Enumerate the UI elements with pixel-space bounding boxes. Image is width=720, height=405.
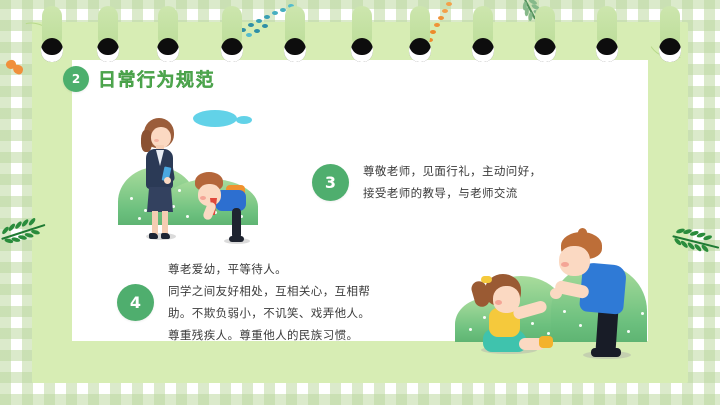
spiral-ring-icon xyxy=(596,38,618,62)
item-number-badge: 3 xyxy=(312,164,349,201)
item-text: 尊敬老师，见面行礼，主动问好， 接受老师的教导，与老师交流 xyxy=(363,160,542,204)
spiral-binding xyxy=(0,0,720,70)
item-line: 尊重残疾人。尊重他人的民族习惯。 xyxy=(168,324,370,346)
spiral-ring-icon xyxy=(41,38,63,62)
teacher-figure xyxy=(130,118,190,240)
list-item: 3 尊敬老师，见面行礼，主动问好， 接受老师的教导，与老师交流 xyxy=(312,160,542,204)
item-number-badge: 4 xyxy=(117,284,154,321)
spiral-ring-icon xyxy=(472,38,494,62)
section-heading: 2 日常行为规范 xyxy=(63,66,215,92)
spiral-ring-icon xyxy=(284,38,306,62)
speech-bubble-icon xyxy=(193,110,237,127)
item-line: 接受老师的教导，与老师交流 xyxy=(363,182,542,204)
list-item: 4 尊老爱幼，平等待人。 同学之间友好相处，互相关心，互相帮 助。不欺负弱小，不… xyxy=(117,258,370,346)
section-number-badge: 2 xyxy=(63,66,89,92)
spiral-ring-icon xyxy=(221,38,243,62)
spiral-ring-icon xyxy=(97,38,119,62)
spiral-ring-icon xyxy=(409,38,431,62)
item-line: 尊敬老师，见面行礼，主动问好， xyxy=(363,160,542,182)
spiral-ring-icon xyxy=(157,38,179,62)
item-line: 尊老爱幼，平等待人。 xyxy=(168,258,370,280)
item-line: 同学之间友好相处，互相关心，互相帮 xyxy=(168,280,370,302)
slide-canvas: 2 日常行为规范 xyxy=(0,0,720,405)
speech-bubble-tail-icon xyxy=(236,116,252,124)
item-text: 尊老爱幼，平等待人。 同学之间友好相处，互相关心，互相帮 助。不欺负弱小，不讥笑… xyxy=(168,258,370,346)
spiral-ring-icon xyxy=(534,38,556,62)
spiral-ring-icon xyxy=(351,38,373,62)
item-line: 助。不欺负弱小，不讥笑、戏弄他人。 xyxy=(168,302,370,324)
bowing-student-figure xyxy=(188,172,250,242)
page-title: 日常行为规范 xyxy=(98,66,215,92)
spiral-ring-icon xyxy=(659,38,681,62)
helping-classmate-illustration xyxy=(455,228,665,364)
